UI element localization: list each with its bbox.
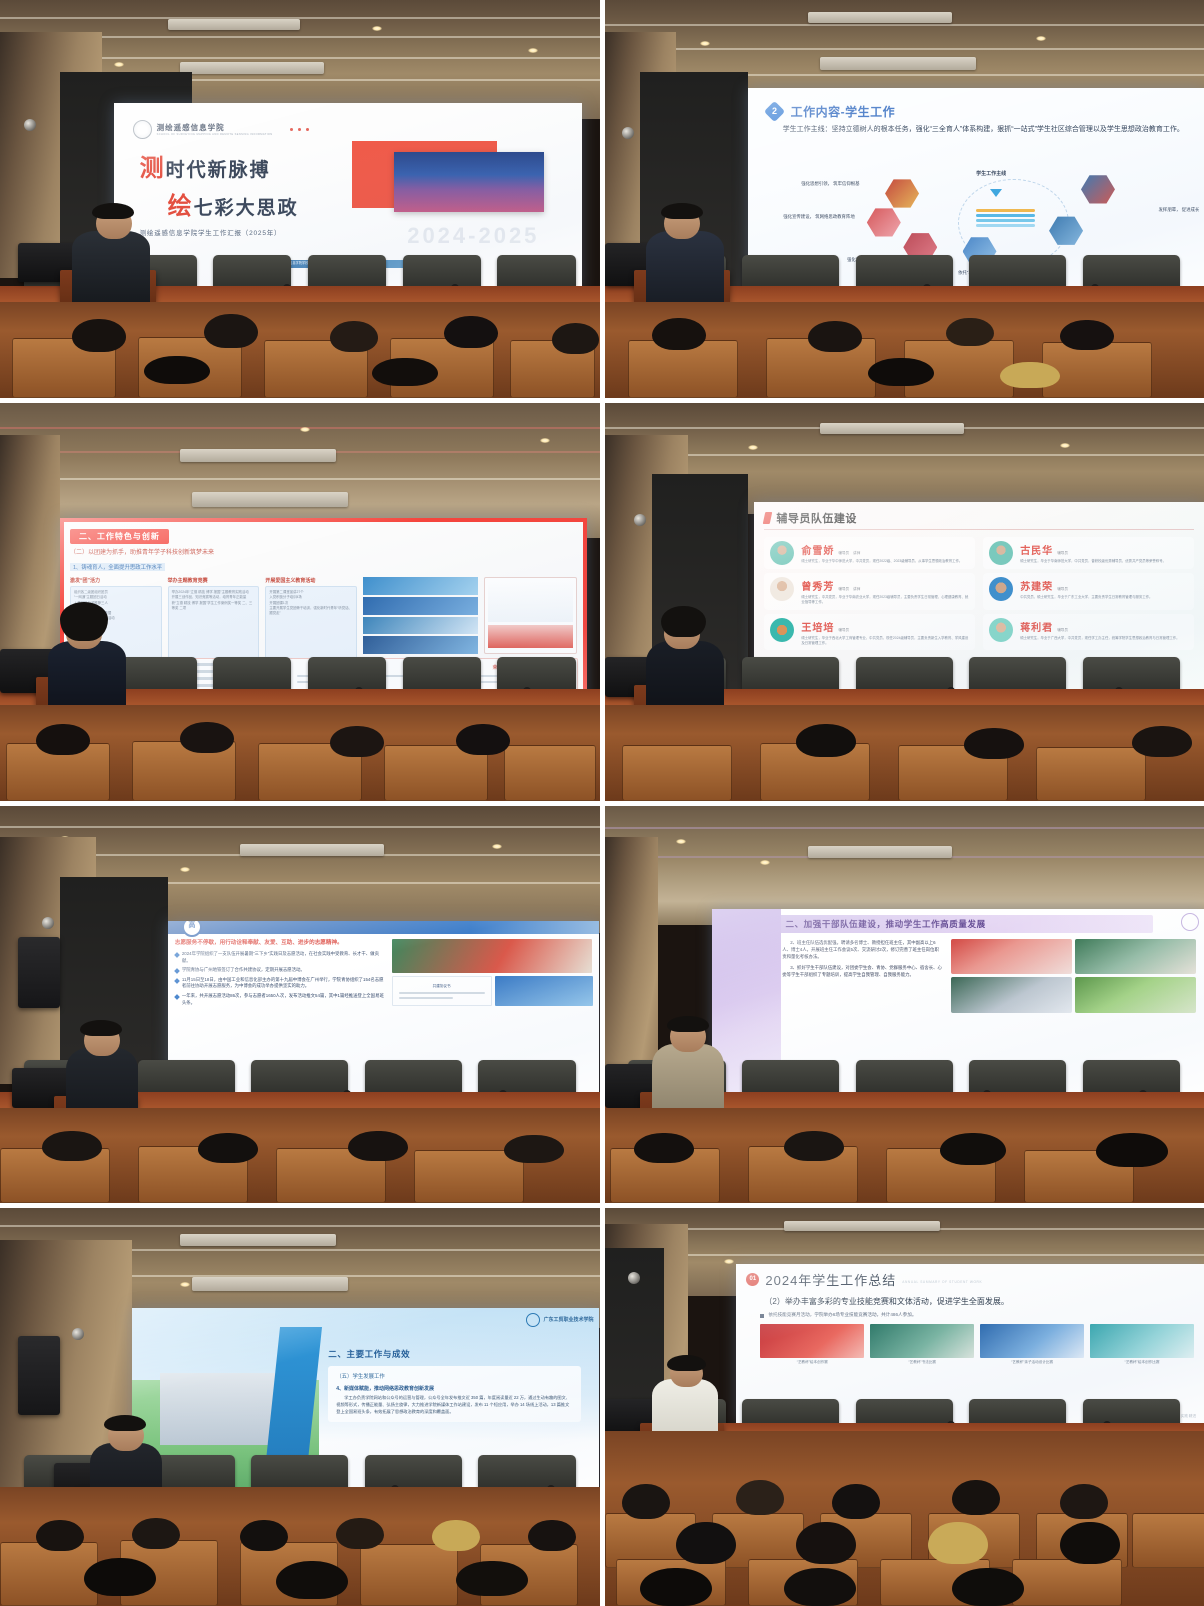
caption: 强化宣传建设， 筑网络思政教育阵地 bbox=[767, 214, 872, 220]
presenter-body bbox=[72, 231, 150, 311]
section-tag: 二、工作特色与创新 bbox=[70, 529, 169, 544]
audience-area bbox=[605, 1431, 1204, 1606]
panel-4-counselor-team: 辅导员队伍建设 俞雪娇辅导员讲师 硕士研究生，毕业于华中师范大学，中共党员，现任… bbox=[605, 403, 1204, 801]
speaker-box bbox=[18, 937, 60, 1009]
event-thumbnail bbox=[760, 1324, 864, 1358]
ghost-year: 2024-2025 bbox=[407, 223, 539, 249]
panel-1-opening-title: 测绘遥感信息学院 SCHOOL OF SURVEYING MAPPING AND… bbox=[0, 0, 600, 398]
counselor-role: 辅导员 bbox=[838, 551, 849, 555]
wood-wall bbox=[605, 837, 659, 1084]
decor-dots bbox=[290, 128, 309, 131]
center-label: 学生工作主线 bbox=[976, 170, 1006, 177]
slide-title: 2024年学生工作总结 bbox=[765, 1270, 896, 1289]
event-photo bbox=[1075, 939, 1196, 975]
slide-logo: 测绘遥感信息学院 SCHOOL OF SURVEYING MAPPING AND… bbox=[133, 120, 563, 139]
event-thumbnail bbox=[980, 1324, 1084, 1358]
counselor-role: 辅导员 bbox=[1057, 628, 1068, 632]
counselor-name: 古民华 bbox=[1020, 546, 1053, 557]
wood-wall bbox=[0, 435, 60, 682]
school-seal-icon bbox=[1181, 913, 1199, 931]
audience-area bbox=[0, 705, 600, 800]
audience-area bbox=[605, 705, 1204, 800]
thumbnail-caption: “艺教杯”亲子活动设计比赛 bbox=[980, 1360, 1084, 1365]
event-photo bbox=[951, 939, 1072, 975]
bullet: 一年来，共开展志愿活动86次，参与志愿者1650人次，发布活动推文54篇，其中1… bbox=[175, 993, 386, 1006]
thumbnail-caption: “艺教杯”书法比赛 bbox=[870, 1360, 974, 1365]
ceremony-photo bbox=[394, 152, 544, 212]
presenter-hair bbox=[661, 606, 706, 638]
activity-photo bbox=[885, 179, 919, 209]
presenter-hair bbox=[80, 1020, 122, 1036]
org-name: 测绘遥感信息学院 bbox=[157, 122, 273, 133]
event-photo bbox=[1075, 977, 1196, 1013]
campus-building bbox=[160, 1373, 282, 1446]
audience-area bbox=[0, 1487, 600, 1606]
counselor-card: 王培培辅导员 硕士研究生，毕业于西北大学工商管理专业，中共党员，现任2024级辅… bbox=[764, 614, 975, 651]
caption: 发挥朋辈， 促进成长 bbox=[1154, 207, 1204, 213]
presenter-hair bbox=[667, 1355, 706, 1371]
column-body: 开展第二课堂宣讲27个 入党积极分子培训4场 开展团课1次 主要开展学生党团骨干… bbox=[265, 586, 357, 659]
presenter-hair bbox=[92, 203, 134, 219]
center-bars bbox=[976, 207, 1035, 229]
down-arrow-icon bbox=[990, 189, 1002, 197]
column-head: 激发“团”活力 bbox=[70, 577, 162, 584]
avatar bbox=[989, 618, 1013, 642]
ceiling bbox=[605, 806, 1204, 925]
avatar bbox=[989, 577, 1013, 601]
panel-8-student-work-summary-2024: 01 2024年学生工作总结 ANNUAL SUMMARY OF STUDENT… bbox=[605, 1208, 1204, 1606]
counselor-name: 王培培 bbox=[801, 623, 834, 634]
panel-7-main-work-achievements: 广东工贸职业技术学院 二、主要工作与成效 （五）学生发展工作 4、新媒体赋能，推… bbox=[0, 1208, 600, 1606]
bullet: 2024年学院组织了一支队伍开展暑期“三下乡”实践日及志愿活动，在社会实践中受教… bbox=[175, 951, 386, 964]
panel-5-volunteer-service: 高 志愿服务不停歇，用行动诠释奉献、友爱、互助、进步的志愿精神。 2024年学院… bbox=[0, 806, 600, 1204]
step-badge: 2 bbox=[763, 101, 784, 122]
auditorium-scene: 测绘遥感信息学院 SCHOOL OF SURVEYING MAPPING AND… bbox=[0, 0, 600, 398]
slide-title-band: 二、加强干部队伍建设，推动学生工作高质量发展 bbox=[777, 915, 1153, 933]
audience-area bbox=[0, 302, 600, 397]
slide-body-card: （五）学生发展工作 4、新媒体赋能，推动网络思政教育创新发展 学工办负责学院网站… bbox=[328, 1366, 581, 1422]
paragraph: 2、班主任队伍选优配强。聘请多名博士、教授担任班主任，其中副高以上6人、博士4人… bbox=[782, 939, 942, 960]
counselor-card: 苏建荣辅导员 中共党员，硕士研究生，毕业于广东工业大学，主要负责学生日常教育管理… bbox=[983, 573, 1194, 610]
avatar bbox=[770, 618, 794, 642]
counselor-desc: 硕士研究生，毕业于西北大学工商管理专业，中共党员，现任2024级辅导员，主要负责… bbox=[801, 636, 969, 647]
counselor-role: 辅导员 bbox=[838, 628, 849, 632]
section-line-2: （二）以团建为抓手，助推青年学子科技创新筑梦未来 bbox=[70, 547, 578, 556]
sub-heading: 4、新媒体赋能，推动网络思政教育创新发展 bbox=[336, 1385, 573, 1392]
counselor-card: 曾秀芳辅导员讲师 硕士研究生，中共党员，毕业于华南农业大学，现任2023级辅导员… bbox=[764, 573, 975, 610]
school-seal-icon bbox=[133, 120, 152, 139]
counselor-desc: 中共党员，硕士研究生，毕业于广东工业大学，主要负责学生日常教育管理与服务工作。 bbox=[1020, 595, 1188, 600]
avatar bbox=[770, 541, 794, 565]
event-thumbnail bbox=[870, 1324, 974, 1358]
column-head: 举办主题教育竞赛 bbox=[168, 577, 260, 584]
photo-column bbox=[363, 577, 478, 654]
camera-icon bbox=[42, 917, 54, 929]
diamond-bullet-icon bbox=[174, 978, 180, 984]
audience-area bbox=[0, 1108, 600, 1203]
counselor-card: 古民华辅导员 硕士研究生，毕业于华南师范大学，中共党员，曾获校级优秀辅导员、优秀… bbox=[983, 537, 1194, 569]
speaker-box bbox=[18, 1336, 60, 1416]
event-thumbnail bbox=[1090, 1324, 1194, 1358]
avatar bbox=[989, 541, 1013, 565]
slide-title: 二、加强干部队伍建设，推动学生工作高质量发展 bbox=[785, 918, 1145, 930]
slide-lead: 学生工作主线：坚持立德树人的根本任务，强化“三全育人”体系构建，狠抓“一站式”学… bbox=[783, 125, 1186, 136]
slide-header: 辅导员队伍建设 bbox=[764, 510, 1194, 530]
caption: 强化思想引领， 筑牢信仰根基 bbox=[780, 181, 880, 187]
presenter-hair bbox=[104, 1415, 146, 1431]
counselor-name: 俞雪娇 bbox=[801, 546, 834, 557]
section-line-3: 1、铸魂育人，全面提升思政工作水平 bbox=[70, 563, 165, 571]
slide-title: 二、主要工作与成效 bbox=[328, 1348, 581, 1360]
slide-topbar: 高 bbox=[168, 921, 600, 934]
audience-area bbox=[605, 302, 1204, 397]
diamond-bullet-icon bbox=[174, 952, 180, 958]
photo-collage-grid: 测绘遥感信息学院 SCHOOL OF SURVEYING MAPPING AND… bbox=[0, 0, 1204, 1606]
school-logo: 广东工贸职业技术学院 bbox=[526, 1313, 593, 1327]
column-head: 开展爱国主义教育活动 bbox=[265, 577, 357, 584]
panel-2-work-content: 2 工作内容-学生工作 学生工作主线：坚持立德树人的根本任务，强化“三全育人”体… bbox=[605, 0, 1204, 398]
presenter-hair bbox=[667, 1016, 709, 1032]
thumbnail-caption: “艺教杯”绘本创作赛 bbox=[760, 1360, 864, 1365]
slide-headline: 志愿服务不停歇，用行动诠释奉献、友爱、互助、进步的志愿精神。 bbox=[175, 939, 386, 947]
thumbnail-caption: “艺教杯”绘本创作比赛 bbox=[1090, 1360, 1194, 1365]
org-name-sub: SCHOOL OF SURVEYING MAPPING AND REMOTE S… bbox=[157, 133, 273, 136]
counselor-desc: 硕士研究生，毕业于华南师范大学，中共党员，曾获校级优秀辅导员、优秀共产党员等荣誉… bbox=[1020, 559, 1188, 564]
presenter-hair bbox=[661, 203, 703, 219]
counselor-desc: 硕士研究生，毕业于华中师范大学，中共党员，现任2022级、2023级辅导员，从事… bbox=[801, 559, 969, 564]
event-photo bbox=[951, 977, 1072, 1013]
volunteer-photo bbox=[392, 939, 593, 973]
counselor-name: 苏建荣 bbox=[1020, 582, 1053, 593]
counselor-desc: 硕士研究生，中共党员，毕业于华南农业大学，现任2023级辅导员，主要负责学生日常… bbox=[801, 595, 969, 606]
avatar bbox=[770, 577, 794, 601]
bullet: 学院青协与广州地铁签订了合作共建协议，定期开展志愿活动。 bbox=[175, 967, 386, 974]
paragraph: 3、抓好学生干部队伍建设，对团委学生会、青协、党群服务中心、宿舍长、心委等学生干… bbox=[782, 964, 942, 978]
activity-photo bbox=[867, 207, 901, 237]
number-badge: 01 bbox=[746, 1273, 759, 1286]
volunteer-photo bbox=[495, 976, 593, 1007]
panel-6-cadre-team-building: 二、加强干部队伍建设，推动学生工作高质量发展 2、班主任队伍选优配强。聘请多名博… bbox=[605, 806, 1204, 1204]
counselor-card: 蒋利君辅导员 硕士研究生，毕业于广西大学，中共党员，现任学工办主任，统筹学院学生… bbox=[983, 614, 1194, 651]
slide-point: （2）举办丰富多彩的专业技能竞赛和文体活动，促进学生全面发展。 bbox=[764, 1296, 1194, 1307]
audience-area bbox=[605, 1108, 1204, 1203]
square-bullet-icon bbox=[760, 1314, 764, 1318]
agreement-doc: 共建协议书 bbox=[392, 976, 492, 1007]
presenter-hair bbox=[60, 602, 108, 642]
diamond-bullet-icon bbox=[174, 968, 180, 974]
counselor-role: 辅导员 bbox=[838, 587, 849, 591]
flag-icon bbox=[763, 512, 773, 524]
section-label: （五）学生发展工作 bbox=[336, 1372, 573, 1380]
slide-sub: 依托技能竞赛月活动，学院举办6场专业技能竞赛活动，共计486人参加。 bbox=[768, 1312, 916, 1318]
bullet: 11月15日至18日，由中国工业和信息化部主办的第十九届中博会在广州举行，学院青… bbox=[175, 977, 386, 990]
slide-title: 辅导员队伍建设 bbox=[776, 510, 857, 526]
camera-icon bbox=[72, 1328, 84, 1340]
counselor-name: 曾秀芳 bbox=[801, 582, 834, 593]
counselor-name: 蒋利君 bbox=[1020, 623, 1053, 634]
paragraph: 学工办负责学院网站和公众号的运营与管理，公众号全年发布推文近 350 篇，年度阅… bbox=[336, 1395, 573, 1416]
poster-column bbox=[484, 577, 578, 654]
counselor-desc: 硕士研究生，毕业于广西大学，中共党员，现任学工办主任，统筹学院学生思想政治教育与… bbox=[1020, 636, 1188, 641]
diamond-bullet-icon bbox=[174, 994, 180, 1000]
slide-title-en: ANNUAL SUMMARY OF STUDENT WORK bbox=[902, 1280, 982, 1284]
activity-photo bbox=[1081, 174, 1115, 204]
counselor-card: 俞雪娇辅导员讲师 硕士研究生，毕业于华中师范大学，中共党员，现任2022级、20… bbox=[764, 537, 975, 569]
panel-3-work-features: 二、工作特色与创新 （二）以团建为抓手，助推青年学子科技创新筑梦未来 1、铸魂育… bbox=[0, 403, 600, 801]
counselor-role: 辅导员 bbox=[1057, 551, 1068, 555]
counselor-role: 辅导员 bbox=[1057, 587, 1068, 591]
column-body: 举办2024年“立德 精技 博学 报国”主题教育实践活动 开展三创作品、知识竞赛… bbox=[168, 586, 260, 659]
slide-title: 工作内容-学生工作 bbox=[791, 103, 896, 120]
